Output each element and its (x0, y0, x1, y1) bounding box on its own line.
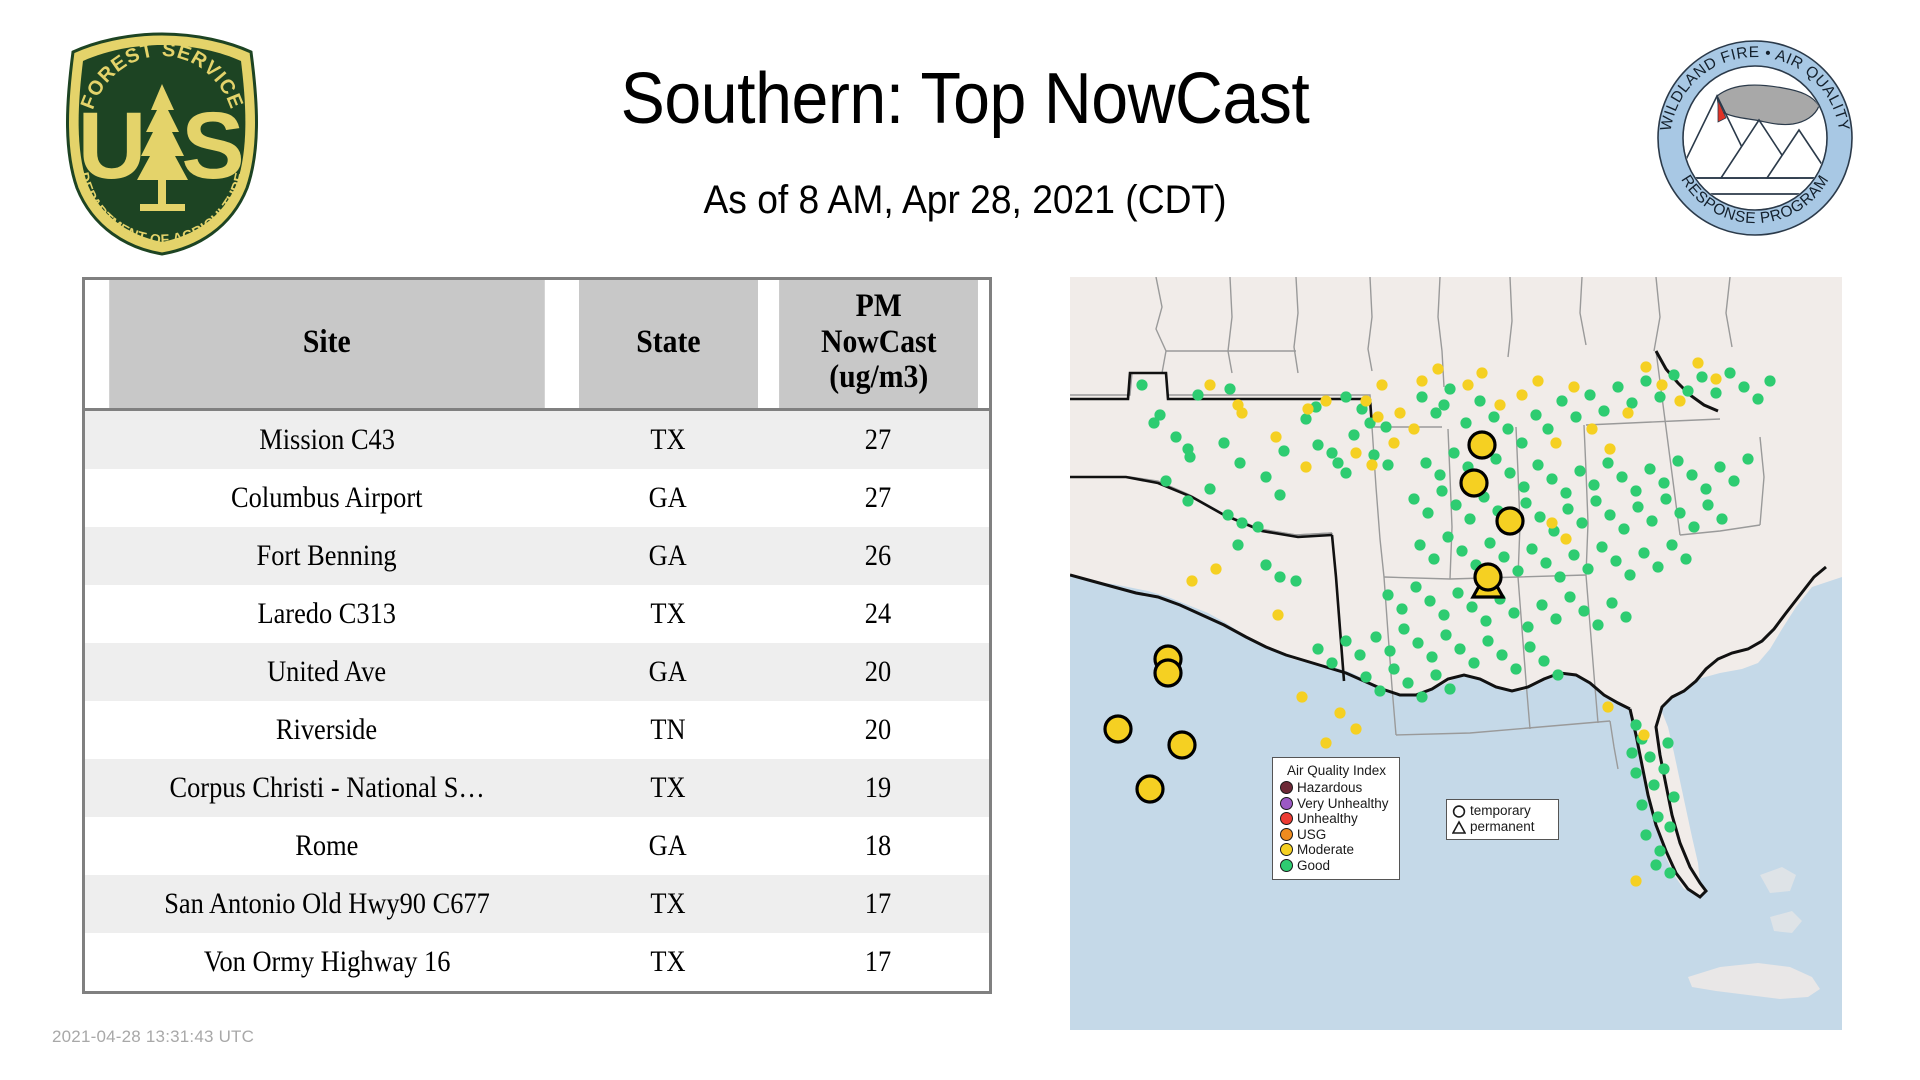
aqi-swatch-icon (1280, 812, 1293, 825)
monitor-dot-good[interactable] (1234, 457, 1245, 468)
monitor-dot-good[interactable] (1520, 497, 1531, 508)
monitor-dot-good[interactable] (1464, 513, 1475, 524)
monitor-dot-good[interactable] (1554, 571, 1565, 582)
monitor-dot-good[interactable] (1658, 763, 1669, 774)
monitor-dot-good[interactable] (1644, 751, 1655, 762)
monitor-dot-good[interactable] (1438, 609, 1449, 620)
monitor-dot-good[interactable] (1414, 539, 1425, 550)
aqi-legend-row: Good (1280, 858, 1393, 874)
monitor-dot-good[interactable] (1668, 369, 1679, 380)
table-row: Von Ormy Highway 16TX17 (85, 933, 989, 991)
monitor-dot-good[interactable] (1402, 677, 1413, 688)
monitor-dot-good[interactable] (1290, 575, 1301, 586)
monitor-dot-good[interactable] (1204, 483, 1215, 494)
site-cell: Rome (85, 817, 569, 875)
monitor-dot-good[interactable] (1522, 621, 1533, 632)
monitor-dot-moderate[interactable] (1568, 381, 1579, 392)
monitor-dot-good[interactable] (1540, 557, 1551, 568)
monitor-dot-good[interactable] (1300, 413, 1311, 424)
monitor-dot-good[interactable] (1222, 509, 1233, 520)
aqi-legend: Air Quality Index HazardousVery Unhealth… (1272, 757, 1400, 880)
aqi-legend-row: Hazardous (1280, 780, 1393, 796)
monitor-dot-good[interactable] (1474, 395, 1485, 406)
monitor-dot-moderate[interactable] (1546, 517, 1557, 528)
aqi-legend-label: USG (1297, 828, 1326, 842)
monitor-dot-good[interactable] (1658, 477, 1669, 488)
monitor-dot-good[interactable] (1502, 423, 1513, 434)
state-cell: TX (569, 759, 768, 817)
monitor-dot-good[interactable] (1630, 485, 1641, 496)
monitor-dot-good[interactable] (1724, 367, 1735, 378)
monitor-dot-good[interactable] (1702, 499, 1713, 510)
pm-cell: 24 (768, 585, 989, 643)
aqi-swatch-icon (1280, 781, 1293, 794)
site-cell: San Antonio Old Hwy90 C677 (85, 875, 569, 933)
pm-cell: 20 (768, 643, 989, 701)
aqi-legend-label: Hazardous (1297, 781, 1362, 795)
monitor-dot-good[interactable] (1380, 421, 1391, 432)
monitor-dot-good[interactable] (1640, 375, 1651, 386)
monitor-dot-good[interactable] (1452, 587, 1463, 598)
monitor-dot-good[interactable] (1604, 509, 1615, 520)
monitor-dot-good[interactable] (1592, 619, 1603, 630)
site-cell: Riverside (85, 701, 569, 759)
monitor-dot-moderate[interactable] (1692, 357, 1703, 368)
usfs-logo: FOREST SERVICE DEPARTMENT OF AGRICULTURE… (55, 28, 270, 258)
monitor-dot-good[interactable] (1454, 643, 1465, 654)
monitor-dot-good[interactable] (1160, 475, 1171, 486)
monitor-dot-moderate[interactable] (1204, 379, 1215, 390)
monitor-dot-good[interactable] (1170, 431, 1181, 442)
monitor-dot-good[interactable] (1224, 383, 1235, 394)
monitor-dot-good[interactable] (1764, 375, 1775, 386)
pm-cell: 17 (768, 875, 989, 933)
monitor-dot-good[interactable] (1182, 495, 1193, 506)
site-cell: Corpus Christi - National S… (85, 759, 569, 817)
monitor-dot-good[interactable] (1578, 605, 1589, 616)
top-site-marker-temporary[interactable] (1169, 732, 1195, 758)
monitor-dot-moderate[interactable] (1416, 375, 1427, 386)
monitor-dot-good[interactable] (1666, 539, 1677, 550)
table-row: Corpus Christi - National S…TX19 (85, 759, 989, 817)
monitor-dot-good[interactable] (1382, 589, 1393, 600)
monitor-dot-moderate[interactable] (1622, 407, 1633, 418)
monitor-dot-good[interactable] (1416, 391, 1427, 402)
monitor-dot-good[interactable] (1648, 779, 1659, 790)
monitor-dot-good[interactable] (1184, 451, 1195, 462)
monitor-dot-moderate[interactable] (1638, 729, 1649, 740)
monitor-dot-moderate[interactable] (1296, 691, 1307, 702)
monitor-dot-moderate[interactable] (1432, 363, 1443, 374)
monitor-dot-moderate[interactable] (1560, 533, 1571, 544)
legend-row-permanent: permanent (1452, 819, 1553, 835)
monitor-dot-good[interactable] (1354, 649, 1365, 660)
monitor-dot-moderate[interactable] (1272, 609, 1283, 620)
aqi-legend-label: Very Unhealthy (1297, 797, 1389, 811)
monitor-dot-good[interactable] (1252, 521, 1263, 532)
monitor-dot-good[interactable] (1348, 429, 1359, 440)
monitor-dot-good[interactable] (1630, 767, 1641, 778)
aqi-legend-label: Unhealthy (1297, 812, 1358, 826)
monitor-dot-good[interactable] (1688, 521, 1699, 532)
nowcast-table: Site State PM NowCast (ug/m3) Mission C4… (82, 277, 992, 994)
column-header-pm-nowcast: PM NowCast (ug/m3) (779, 280, 978, 409)
monitor-dot-good[interactable] (1450, 499, 1461, 510)
state-cell: TX (569, 933, 768, 991)
state-cell: TX (569, 585, 768, 643)
monitor-dot-moderate[interactable] (1320, 395, 1331, 406)
monitor-dot-moderate[interactable] (1350, 447, 1361, 458)
monitor-dot-good[interactable] (1444, 683, 1455, 694)
monitor-dot-moderate[interactable] (1334, 707, 1345, 718)
table-header-row: Site State PM NowCast (ug/m3) (85, 280, 989, 409)
pm-cell: 27 (768, 469, 989, 527)
monitor-dot-good[interactable] (1582, 563, 1593, 574)
monitor-dot-good[interactable] (1584, 389, 1595, 400)
monitor-dot-good[interactable] (1468, 657, 1479, 668)
top-site-marker-temporary[interactable] (1137, 776, 1163, 802)
monitor-dot-good[interactable] (1420, 457, 1431, 468)
pm-cell: 18 (768, 817, 989, 875)
monitor-dot-good[interactable] (1668, 791, 1679, 802)
state-cell: GA (569, 469, 768, 527)
monitor-dot-good[interactable] (1448, 447, 1459, 458)
monitor-dot-good[interactable] (1512, 565, 1523, 576)
monitor-dot-good[interactable] (1424, 595, 1435, 606)
site-cell: Mission C43 (85, 409, 569, 469)
aqi-swatch-icon (1280, 859, 1293, 872)
aqi-legend-label: Good (1297, 859, 1330, 873)
aqi-legend-row: Very Unhealthy (1280, 796, 1393, 812)
monitor-dot-good[interactable] (1136, 379, 1147, 390)
monitor-dot-good[interactable] (1340, 467, 1351, 478)
monitor-dot-good[interactable] (1752, 393, 1763, 404)
table-row: Mission C43TX27 (85, 409, 989, 469)
monitor-dot-good[interactable] (1260, 559, 1271, 570)
monitor-dot-good[interactable] (1384, 645, 1395, 656)
monitor-dot-good[interactable] (1672, 455, 1683, 466)
timestamp: 2021-04-28 13:31:43 UTC (52, 1027, 254, 1047)
monitor-dot-good[interactable] (1660, 493, 1671, 504)
monitor-dot-good[interactable] (1192, 389, 1203, 400)
top-site-marker-temporary[interactable] (1497, 508, 1523, 534)
map-canvas[interactable] (1070, 277, 1842, 1030)
monitor-dot-good[interactable] (1374, 685, 1385, 696)
aqi-swatch-icon (1280, 828, 1293, 841)
monitor-dot-good[interactable] (1436, 485, 1447, 496)
page-subtitle: As of 8 AM, Apr 28, 2021 (CDT) (347, 178, 1584, 223)
monitor-dot-good[interactable] (1626, 397, 1637, 408)
monitor-dot-good[interactable] (1560, 487, 1571, 498)
monitor-dot-good[interactable] (1398, 623, 1409, 634)
monitor-dot-good[interactable] (1550, 613, 1561, 624)
monitor-dot-moderate[interactable] (1320, 737, 1331, 748)
pm-cell: 17 (768, 933, 989, 991)
legend-row-temporary: temporary (1452, 803, 1553, 819)
monitor-dot-moderate[interactable] (1372, 411, 1383, 422)
monitor-dot-good[interactable] (1638, 547, 1649, 558)
monitor-dot-good[interactable] (1510, 663, 1521, 674)
table-row: United AveGA20 (85, 643, 989, 701)
monitor-dot-good[interactable] (1422, 507, 1433, 518)
monitor-dot-good[interactable] (1696, 371, 1707, 382)
monitor-dot-good[interactable] (1368, 449, 1379, 460)
usfs-letter-u: U (78, 93, 147, 199)
monitor-dot-good[interactable] (1620, 611, 1631, 622)
monitor-dot-good[interactable] (1332, 457, 1343, 468)
monitor-dot-good[interactable] (1274, 571, 1285, 582)
monitor-dot-good[interactable] (1360, 671, 1371, 682)
monitor-dot-good[interactable] (1564, 591, 1575, 602)
monitor-dot-good[interactable] (1652, 811, 1663, 822)
monitor-dot-moderate[interactable] (1236, 407, 1247, 418)
aqi-legend-label: Moderate (1297, 843, 1354, 857)
monitor-dot-moderate[interactable] (1186, 575, 1197, 586)
monitor-dot-good[interactable] (1590, 495, 1601, 506)
monitor-dot-good[interactable] (1312, 439, 1323, 450)
monitor-dot-good[interactable] (1610, 555, 1621, 566)
aqi-legend-row: USG (1280, 827, 1393, 843)
aqi-swatch-icon (1280, 843, 1293, 856)
monitor-dot-good[interactable] (1562, 503, 1573, 514)
monitor-dot-good[interactable] (1382, 459, 1393, 470)
monitor-dot-good[interactable] (1630, 719, 1641, 730)
monitor-dot-good[interactable] (1680, 553, 1691, 564)
monitor-dot-good[interactable] (1326, 657, 1337, 668)
monitor-dot-good[interactable] (1482, 635, 1493, 646)
monitor-dot-good[interactable] (1440, 629, 1451, 640)
monitor-dot-good[interactable] (1556, 395, 1567, 406)
monitor-dot-moderate[interactable] (1476, 367, 1487, 378)
monitor-dot-good[interactable] (1484, 537, 1495, 548)
monitor-dot-moderate[interactable] (1366, 459, 1377, 470)
monitor-dot-good[interactable] (1570, 411, 1581, 422)
monitor-dot-moderate[interactable] (1516, 389, 1527, 400)
monitor-dot-good[interactable] (1598, 405, 1609, 416)
column-header-state: State (579, 280, 758, 409)
monitor-dot-good[interactable] (1488, 411, 1499, 422)
monitor-dot-moderate[interactable] (1360, 395, 1371, 406)
monitor-dot-moderate[interactable] (1674, 395, 1685, 406)
table-row: RiversideTN20 (85, 701, 989, 759)
monitor-dot-good[interactable] (1498, 551, 1509, 562)
monitor-dot-good[interactable] (1442, 531, 1453, 542)
monitor-dot-moderate[interactable] (1656, 379, 1667, 390)
monitor-dot-good[interactable] (1532, 459, 1543, 470)
monitor-dot-good[interactable] (1312, 643, 1323, 654)
monitor-dot-good[interactable] (1650, 859, 1661, 870)
monitor-dot-good[interactable] (1574, 465, 1585, 476)
monitor-dot-good[interactable] (1460, 417, 1471, 428)
monitor-dot-good[interactable] (1640, 829, 1651, 840)
monitor-dot-moderate[interactable] (1640, 361, 1651, 372)
monitor-dot-good[interactable] (1654, 391, 1665, 402)
monitor-dot-good[interactable] (1430, 669, 1441, 680)
monitor-type-legend: temporary permanent (1446, 799, 1559, 840)
monitor-dot-good[interactable] (1700, 483, 1711, 494)
monitor-dot-moderate[interactable] (1350, 723, 1361, 734)
pm-cell: 26 (768, 527, 989, 585)
permanent-monitor-icon (1452, 820, 1466, 835)
monitor-dot-moderate[interactable] (1270, 431, 1281, 442)
state-cell: TX (569, 875, 768, 933)
monitor-dot-good[interactable] (1434, 469, 1445, 480)
aqi-legend-title: Air Quality Index (1280, 763, 1393, 778)
site-cell: Columbus Airport (85, 469, 569, 527)
monitor-dot-good[interactable] (1588, 479, 1599, 490)
monitor-dot-good[interactable] (1646, 515, 1657, 526)
monitor-dot-good[interactable] (1738, 381, 1749, 392)
monitor-dot-moderate[interactable] (1604, 443, 1615, 454)
monitor-dot-good[interactable] (1714, 461, 1725, 472)
monitor-dot-good[interactable] (1456, 545, 1467, 556)
monitor-dot-good[interactable] (1626, 747, 1637, 758)
monitor-dot-good[interactable] (1274, 489, 1285, 500)
monitor-dot-good[interactable] (1546, 473, 1557, 484)
site-cell: United Ave (85, 643, 569, 701)
monitor-dot-good[interactable] (1674, 507, 1685, 518)
monitor-dot-good[interactable] (1340, 391, 1351, 402)
monitor-dot-good[interactable] (1388, 663, 1399, 674)
state-cell: TN (569, 701, 768, 759)
legend-label-temporary: temporary (1470, 804, 1531, 818)
monitor-dot-good[interactable] (1636, 799, 1647, 810)
monitor-dot-good[interactable] (1710, 387, 1721, 398)
wfaqrp-logo: WILDLAND FIRE • AIR QUALITY RESPONSE PRO… (1655, 38, 1855, 238)
monitor-dot-good[interactable] (1444, 383, 1455, 394)
state-cell: TX (569, 409, 768, 469)
monitor-dot-good[interactable] (1618, 523, 1629, 534)
monitor-dot-good[interactable] (1576, 517, 1587, 528)
monitor-dot-good[interactable] (1416, 691, 1427, 702)
monitor-dot-good[interactable] (1466, 601, 1477, 612)
monitor-dot-good[interactable] (1438, 399, 1449, 410)
air-quality-map[interactable] (1070, 277, 1842, 1030)
site-cell: Laredo C313 (85, 585, 569, 643)
monitor-dot-good[interactable] (1232, 539, 1243, 550)
top-site-marker-temporary[interactable] (1105, 716, 1131, 742)
monitor-dot-good[interactable] (1686, 469, 1697, 480)
monitor-dot-good[interactable] (1412, 637, 1423, 648)
state-cell: GA (569, 527, 768, 585)
monitor-dot-moderate[interactable] (1376, 379, 1387, 390)
monitor-dot-good[interactable] (1428, 553, 1439, 564)
monitor-dot-moderate[interactable] (1602, 701, 1613, 712)
monitor-dot-good[interactable] (1664, 821, 1675, 832)
usfs-shield-icon: FOREST SERVICE DEPARTMENT OF AGRICULTURE… (55, 28, 270, 258)
monitor-dot-good[interactable] (1542, 423, 1553, 434)
monitor-dot-good[interactable] (1526, 543, 1537, 554)
monitor-dot-good[interactable] (1408, 493, 1419, 504)
table-row: Fort BenningGA26 (85, 527, 989, 585)
monitor-dot-good[interactable] (1410, 581, 1421, 592)
monitor-dot-moderate[interactable] (1300, 461, 1311, 472)
monitor-dot-good[interactable] (1426, 651, 1437, 662)
monitor-dot-moderate[interactable] (1550, 437, 1561, 448)
state-cell: GA (569, 817, 768, 875)
monitor-dot-moderate[interactable] (1394, 407, 1405, 418)
monitor-dot-good[interactable] (1716, 513, 1727, 524)
monitor-dot-good[interactable] (1644, 463, 1655, 474)
monitor-dot-good[interactable] (1496, 649, 1507, 660)
monitor-dot-good[interactable] (1606, 597, 1617, 608)
monitor-dot-good[interactable] (1504, 467, 1515, 478)
monitor-dot-good[interactable] (1654, 845, 1665, 856)
monitor-dot-good[interactable] (1536, 599, 1547, 610)
top-site-marker-temporary[interactable] (1155, 660, 1181, 686)
monitor-dot-good[interactable] (1596, 541, 1607, 552)
monitor-dot-good[interactable] (1652, 561, 1663, 572)
aqi-legend-row: Unhealthy (1280, 811, 1393, 827)
top-site-marker-temporary[interactable] (1469, 432, 1495, 458)
page-title: Southern: Top NowCast (353, 58, 1577, 140)
table-row: Columbus AirportGA27 (85, 469, 989, 527)
monitor-dot-moderate[interactable] (1408, 423, 1419, 434)
monitor-dot-good[interactable] (1260, 471, 1271, 482)
monitor-dot-good[interactable] (1728, 475, 1739, 486)
monitor-dot-good[interactable] (1662, 737, 1673, 748)
monitor-dot-good[interactable] (1616, 471, 1627, 482)
monitor-dot-moderate[interactable] (1532, 375, 1543, 386)
monitor-dot-good[interactable] (1552, 669, 1563, 680)
monitor-dot-moderate[interactable] (1462, 379, 1473, 390)
monitor-dot-good[interactable] (1624, 569, 1635, 580)
monitor-dot-good[interactable] (1632, 501, 1643, 512)
monitor-dot-moderate[interactable] (1210, 563, 1221, 574)
top-site-marker-temporary[interactable] (1461, 470, 1487, 496)
monitor-dot-moderate[interactable] (1494, 399, 1505, 410)
monitor-dot-good[interactable] (1370, 631, 1381, 642)
monitor-dot-good[interactable] (1218, 437, 1229, 448)
monitor-dot-good[interactable] (1278, 445, 1289, 456)
monitor-dot-good[interactable] (1568, 549, 1579, 560)
aqi-swatch-icon (1280, 797, 1293, 810)
monitor-dot-moderate[interactable] (1302, 403, 1313, 414)
monitor-dot-good[interactable] (1742, 453, 1753, 464)
monitor-dot-good[interactable] (1154, 409, 1165, 420)
monitor-dot-good[interactable] (1538, 655, 1549, 666)
monitor-dot-good[interactable] (1508, 607, 1519, 618)
monitor-dot-good[interactable] (1236, 517, 1247, 528)
monitor-dot-moderate[interactable] (1586, 423, 1597, 434)
wfaqrp-seal-icon: WILDLAND FIRE • AIR QUALITY RESPONSE PRO… (1655, 38, 1855, 238)
monitor-dot-moderate[interactable] (1388, 437, 1399, 448)
monitor-dot-good[interactable] (1524, 641, 1535, 652)
column-header-site: Site (109, 280, 544, 409)
monitor-dot-moderate[interactable] (1710, 373, 1721, 384)
monitor-dot-good[interactable] (1340, 635, 1351, 646)
pm-cell: 19 (768, 759, 989, 817)
monitor-dot-good[interactable] (1602, 457, 1613, 468)
state-cell: GA (569, 643, 768, 701)
monitor-dot-good[interactable] (1516, 437, 1527, 448)
monitor-dot-good[interactable] (1396, 603, 1407, 614)
monitor-dot-good[interactable] (1682, 385, 1693, 396)
monitor-dot-good[interactable] (1664, 867, 1675, 878)
monitor-dot-good[interactable] (1612, 381, 1623, 392)
top-site-marker-temporary[interactable] (1475, 564, 1501, 590)
site-cell: Fort Benning (85, 527, 569, 585)
monitor-dot-moderate[interactable] (1630, 875, 1641, 886)
table-row: Laredo C313TX24 (85, 585, 989, 643)
monitor-dot-good[interactable] (1326, 447, 1337, 458)
monitor-dot-good[interactable] (1430, 407, 1441, 418)
monitor-dot-good[interactable] (1530, 409, 1541, 420)
temporary-monitor-icon (1452, 804, 1466, 819)
monitor-dot-good[interactable] (1534, 511, 1545, 522)
monitor-dot-good[interactable] (1480, 615, 1491, 626)
monitor-dot-good[interactable] (1518, 481, 1529, 492)
